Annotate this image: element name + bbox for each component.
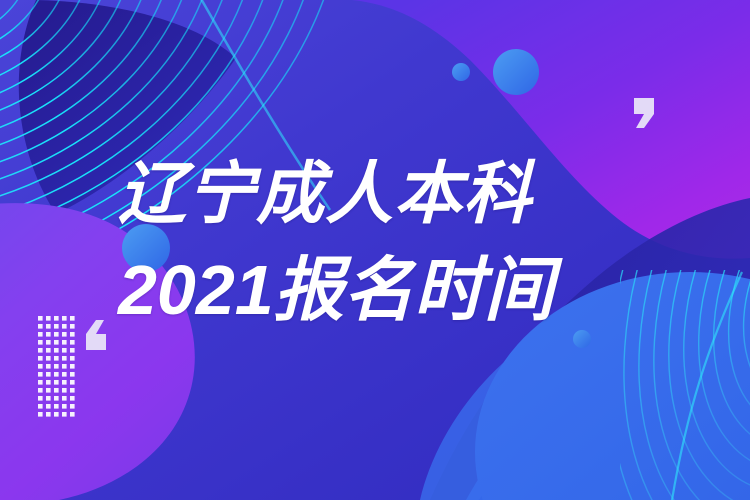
close-quote-mark-icon — [632, 96, 658, 135]
circle-large-top — [493, 49, 539, 95]
circle-mid-left — [122, 224, 170, 272]
open-quote-mark-icon — [82, 318, 108, 357]
circle-small-top — [452, 63, 470, 81]
banner-image: 辽宁成人本科 2021报名时间 — [0, 0, 750, 500]
dot-grid-pattern-icon — [38, 316, 78, 420]
circle-small-bottom — [573, 330, 591, 348]
decorative-circles — [0, 0, 750, 500]
